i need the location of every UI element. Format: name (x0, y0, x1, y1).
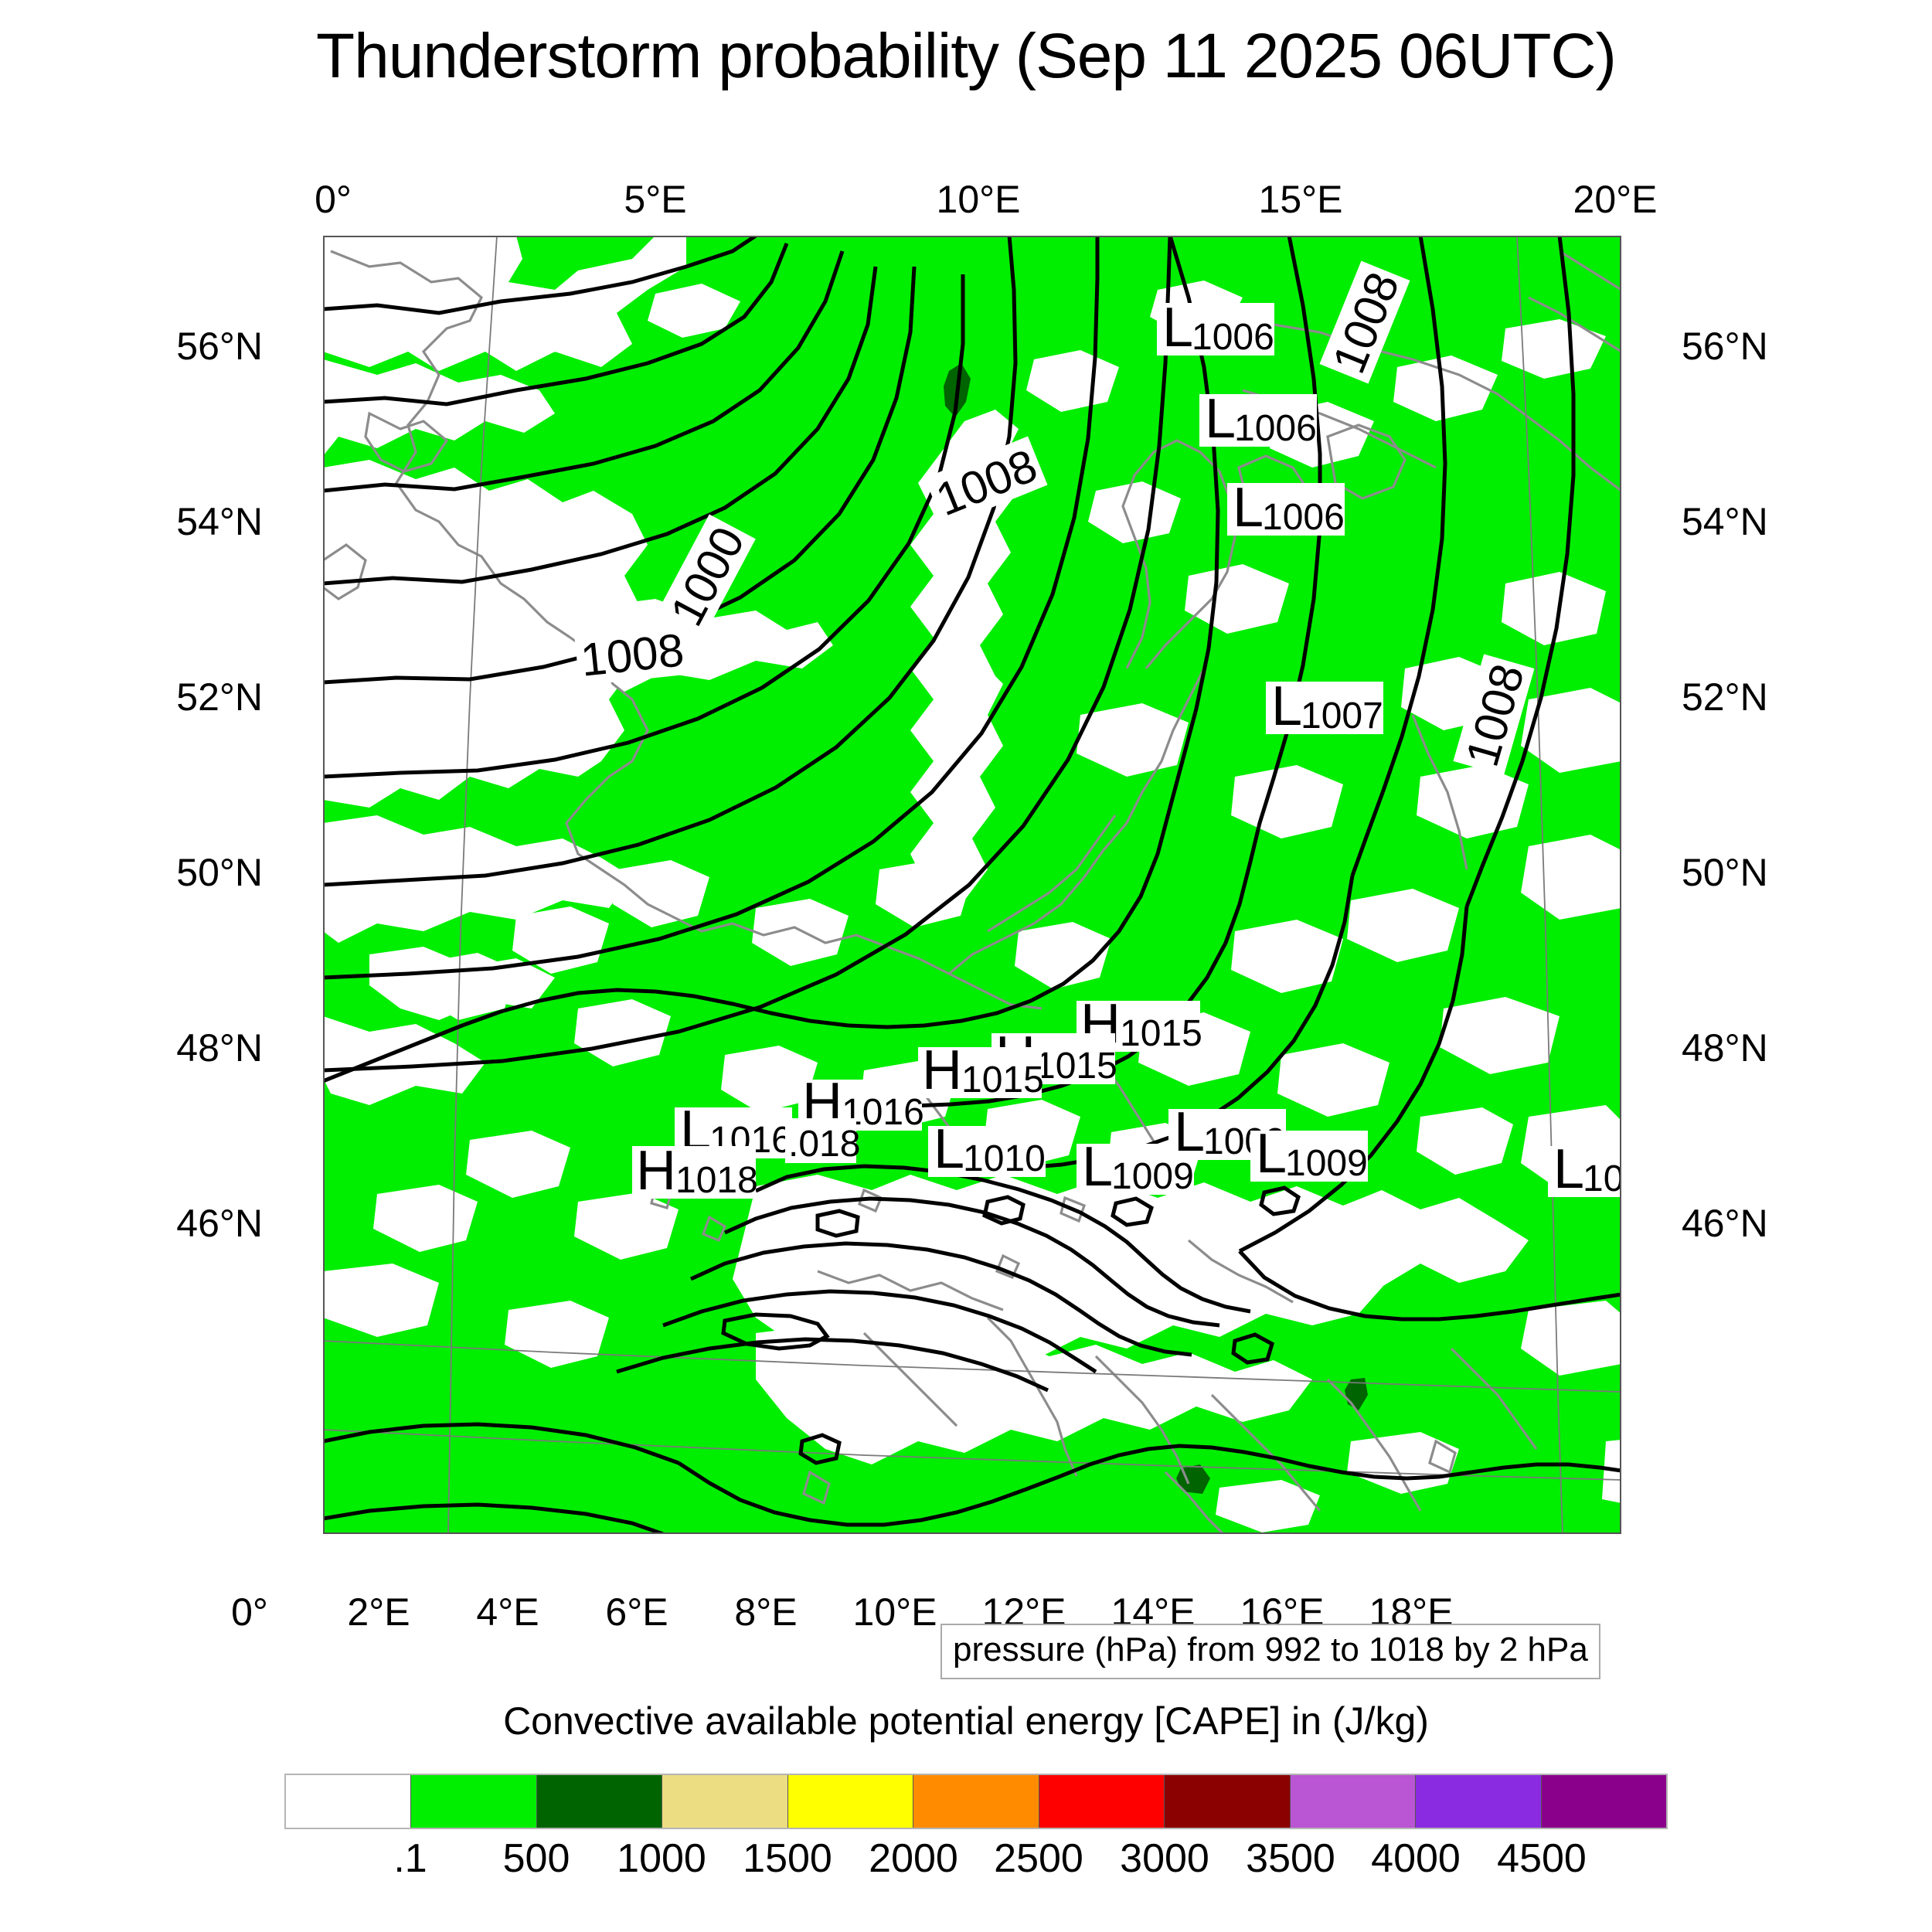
axis-top-label-1: 5°E (624, 177, 686, 222)
colorbar-segment-10 (1542, 1775, 1666, 1828)
pressure-center-L-1007: L 1007 (1266, 675, 1383, 737)
axis-left-label-3: 50°N (176, 850, 263, 895)
svg-text:L: L (1233, 477, 1264, 539)
svg-text:10: 10 (1583, 1158, 1621, 1199)
axis-left-label-5: 46°N (176, 1201, 263, 1246)
axis-right-label-4: 48°N (1682, 1026, 1768, 1070)
svg-text:1006: 1006 (1262, 497, 1345, 538)
svg-text:H: H (636, 1140, 676, 1202)
axis-top-label-2: 10°E (937, 177, 1021, 222)
axis-right-label-2: 52°N (1682, 675, 1768, 719)
colorbar-segment-1 (411, 1775, 536, 1828)
svg-text:L: L (1553, 1138, 1584, 1200)
axis-top-label-0: 0° (315, 177, 352, 222)
colorbar-caption: Convective available potential energy [C… (0, 1699, 1932, 1743)
axis-bottom-label-2: 4°E (476, 1590, 539, 1634)
axis-right-label-3: 50°N (1682, 850, 1768, 895)
pressure-center-L-1010: L 1010 (928, 1118, 1046, 1180)
map-canvas[interactable]: 1000 1008 1008 1008 (323, 236, 1621, 1534)
colorbar-tick-8: 4000 (1371, 1835, 1461, 1882)
svg-text:1018: 1018 (675, 1160, 758, 1201)
colorbar-tick-0: .1 (393, 1835, 427, 1882)
svg-text:1006: 1006 (1234, 408, 1317, 449)
pressure-center-H-1015-west: H 1015 (918, 1039, 1044, 1101)
colorbar-segment-6 (1039, 1775, 1165, 1828)
colorbar-tick-9: 4500 (1497, 1835, 1587, 1882)
axis-left-label-2: 52°N (176, 675, 263, 719)
colorbar-tick-5: 2500 (994, 1835, 1083, 1882)
colorbar-segment-5 (913, 1775, 1039, 1828)
axis-bottom-label-3: 6°E (605, 1590, 668, 1634)
colorbar-segment-7 (1165, 1775, 1290, 1828)
svg-text:L: L (1256, 1123, 1287, 1185)
axis-left-label-1: 54°N (176, 499, 263, 544)
svg-text:L: L (1162, 297, 1193, 359)
axis-right-label-0: 56°N (1682, 324, 1768, 369)
pressure-center-L-1006-c: L 1006 (1227, 477, 1345, 539)
cape-colorbar[interactable] (284, 1774, 1668, 1829)
svg-text:L: L (1271, 675, 1302, 737)
colorbar-segment-2 (537, 1775, 662, 1828)
pressure-interval-note: pressure (hPa) from 992 to 1018 by 2 hPa (940, 1624, 1600, 1679)
pressure-center-L-1009-c: L 1009 (1250, 1123, 1368, 1185)
pressure-center-L-1006-b: L 1006 (1199, 388, 1317, 450)
pressure-center-H-1018: H 1018 (632, 1140, 758, 1202)
svg-text:1015: 1015 (1035, 1046, 1117, 1087)
svg-text:L: L (934, 1118, 964, 1180)
axis-left-label-4: 48°N (176, 1026, 263, 1070)
colorbar-tick-7: 3500 (1246, 1835, 1335, 1882)
axis-bottom-label-5: 10°E (853, 1590, 937, 1634)
colorbar-tick-2: 1000 (617, 1835, 706, 1882)
axis-top-label-3: 15°E (1259, 177, 1343, 222)
axis-right-label-5: 46°N (1682, 1201, 1768, 1246)
page-title: Thunderstorm probability (Sep 11 2025 06… (0, 20, 1932, 93)
map-panel: 1000 1008 1008 1008 (323, 236, 1621, 1534)
colorbar-tick-1: 500 (503, 1835, 570, 1882)
colorbar-tick-labels: .1 500 1000 1500 2000 2500 3000 3500 400… (284, 1835, 1668, 1889)
svg-text:H: H (922, 1039, 962, 1101)
svg-text:1009: 1009 (1285, 1143, 1368, 1184)
colorbar-segment-4 (788, 1775, 913, 1828)
svg-text:L: L (1205, 388, 1236, 450)
pressure-center-L-10-clipped: L 10 (1548, 1138, 1621, 1200)
axis-top-label-4: 20°E (1573, 177, 1658, 222)
svg-text:1015: 1015 (1120, 1013, 1202, 1054)
colorbar-segment-3 (662, 1775, 787, 1828)
svg-text:1007: 1007 (1301, 696, 1383, 736)
colorbar-segment-9 (1416, 1775, 1541, 1828)
svg-text:1010: 1010 (963, 1138, 1046, 1179)
svg-text:1015: 1015 (961, 1060, 1044, 1100)
axis-right-label-1: 54°N (1682, 499, 1768, 544)
pressure-center-L-1018-fragment: .018 (785, 1118, 860, 1165)
axis-bottom-label-0: 0° (231, 1590, 268, 1634)
svg-text:1008: 1008 (578, 624, 686, 686)
svg-text:.018: .018 (788, 1124, 860, 1165)
axis-bottom-label-1: 2°E (347, 1590, 410, 1634)
colorbar-tick-4: 2000 (869, 1835, 958, 1882)
svg-text:L: L (1174, 1101, 1205, 1163)
svg-text:1006: 1006 (1192, 317, 1274, 358)
colorbar-segment-8 (1291, 1775, 1416, 1828)
colorbar-tick-6: 3000 (1120, 1835, 1209, 1882)
axis-left-label-0: 56°N (176, 324, 263, 369)
svg-text:L: L (1082, 1136, 1113, 1198)
colorbar-tick-3: 1500 (743, 1835, 832, 1882)
weather-map-page: Thunderstorm probability (Sep 11 2025 06… (0, 0, 1932, 1932)
axis-bottom-label-4: 8°E (734, 1590, 797, 1634)
colorbar-segment-0 (286, 1775, 411, 1828)
pressure-center-L-1006-a: L 1006 (1157, 297, 1274, 359)
